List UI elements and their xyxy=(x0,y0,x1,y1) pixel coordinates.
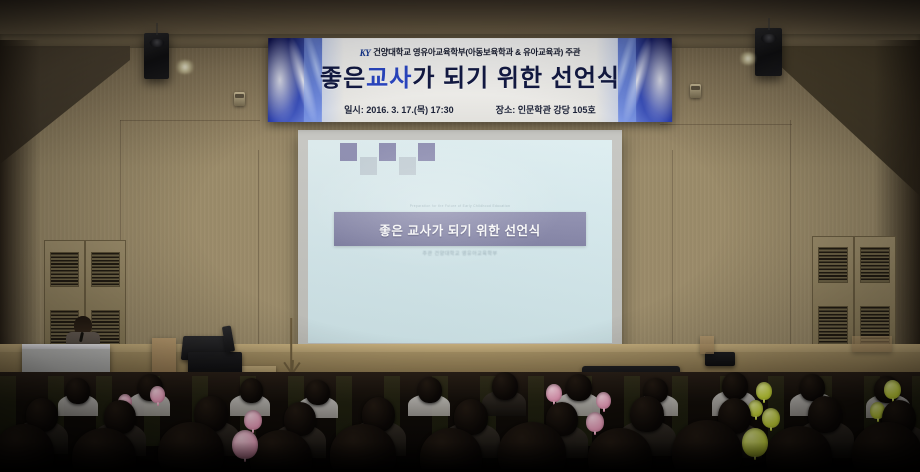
balloon-yellow xyxy=(756,382,772,400)
banner-datetime: 일시: 2016. 3. 17.(목) 17:30 xyxy=(344,103,454,116)
decor-square xyxy=(418,143,435,161)
balloon-pink xyxy=(150,386,165,403)
speaker-cone xyxy=(149,39,164,47)
wall-spotlight-left xyxy=(234,92,245,106)
wall-spotlight-right xyxy=(690,84,701,98)
balloon-yellow xyxy=(884,380,901,399)
wall-seam xyxy=(660,124,792,125)
audience-head xyxy=(492,372,518,400)
wall-seam xyxy=(790,120,791,350)
audience-head xyxy=(566,374,592,401)
slide-title-bar: 좋은 교사가 되기 위한 선언식 xyxy=(334,212,586,246)
banner-organizer-text: 건양대학교 영유아교육학부(아동보육학과 & 유아교육과) 주관 xyxy=(373,47,580,57)
louver-vent xyxy=(50,252,80,288)
decor-square xyxy=(340,143,357,161)
wall-seam xyxy=(258,150,259,350)
stage-light-glow-left xyxy=(174,60,196,74)
balloon-pink xyxy=(546,384,562,402)
speaker-cone xyxy=(760,34,776,43)
audience-head xyxy=(808,396,842,433)
audience-head xyxy=(418,377,442,403)
banner-title-part3: 가 되기 위한 선언식 xyxy=(412,65,620,92)
projection-screen: Preparation for the Future of Early Chil… xyxy=(298,130,622,355)
audience-head xyxy=(722,372,748,400)
stage-light-glow-right xyxy=(738,52,758,65)
stage-small-box xyxy=(700,336,714,354)
speaker-mount xyxy=(156,23,157,35)
ceiling-beam xyxy=(0,0,920,34)
stage-table-right xyxy=(852,336,892,352)
floor-monitor-speaker xyxy=(188,352,242,374)
decor-square xyxy=(379,143,396,161)
audience-head xyxy=(66,378,90,404)
ceiling-speaker-right xyxy=(755,28,782,76)
ceiling-speaker-left xyxy=(144,33,169,79)
speaker-mount xyxy=(768,18,769,30)
cardboard-box xyxy=(152,338,176,372)
balloon-pink xyxy=(586,412,604,432)
slide-tagline: Preparation for the Future of Early Chil… xyxy=(308,204,612,208)
audience-head xyxy=(306,380,330,405)
louver-vent xyxy=(818,247,848,283)
banner-main-title: 좋은교사가 되기 위한 선언식 xyxy=(268,58,672,93)
floor-monitor-speaker-right xyxy=(705,352,735,366)
banner-organizer-line: KY건양대학교 영유아교육학부(아동보육학과 & 유아교육과) 주관 xyxy=(268,46,672,58)
decor-square xyxy=(399,157,416,175)
louver-vent xyxy=(860,247,890,283)
banner-details-line: 일시: 2016. 3. 17.(목) 17:30 장소: 인문학관 강당 10… xyxy=(268,103,672,116)
banner-location: 장소: 인문학관 강당 105호 xyxy=(496,103,596,116)
audience-shadow xyxy=(0,442,920,472)
decor-square xyxy=(360,157,377,175)
audience-head xyxy=(630,396,664,432)
louver-vent xyxy=(91,252,121,288)
audience-area xyxy=(0,372,920,472)
balloon-pink xyxy=(244,410,262,430)
slide-title-text: 좋은 교사가 되기 위한 선언식 xyxy=(379,220,541,239)
wall-shadow-left xyxy=(0,40,40,390)
projected-slide: Preparation for the Future of Early Chil… xyxy=(308,140,612,343)
balloon-pink xyxy=(596,392,611,409)
event-banner: KY건양대학교 영유아교육학부(아동보육학과 & 유아교육과) 주관 좋은교사가… xyxy=(268,38,672,122)
wall-seam xyxy=(672,150,673,350)
ky-university-logo: KY xyxy=(360,48,371,58)
slide-subtitle: 주관 건양대학교 영유아교육학부 xyxy=(308,250,612,257)
balloon-yellow xyxy=(762,408,780,428)
auditorium-photo: Preparation for the Future of Early Chil… xyxy=(0,0,920,472)
microphone-tripod-stand xyxy=(270,318,312,374)
banner-title-part1: 좋은 xyxy=(320,65,366,92)
banner-title-part2: 교사 xyxy=(366,65,412,92)
wall-seam xyxy=(120,120,260,121)
audience-head xyxy=(240,378,263,403)
